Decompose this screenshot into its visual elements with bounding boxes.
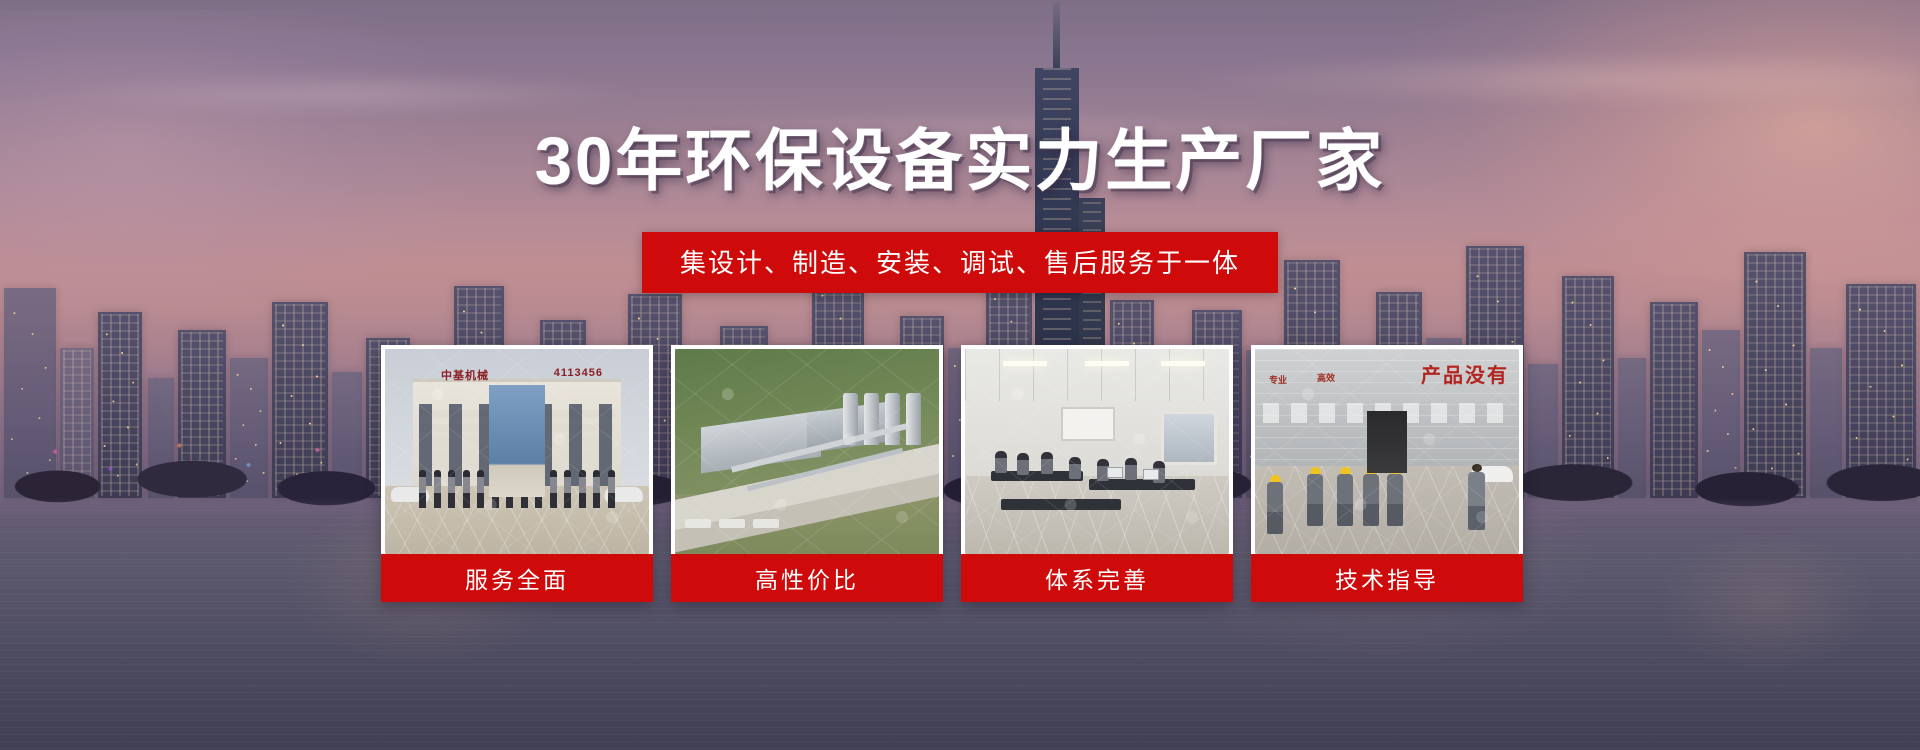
photo-signage-company-name: 中基机械 <box>441 367 489 383</box>
banner-headline: 30年环保设备实力生产厂家 <box>0 128 1920 195</box>
photo-signage-phone: 4113456 <box>554 367 603 379</box>
card-photo-industrial-plant <box>675 349 939 554</box>
feature-card-row: 中基机械 4113456 服务全面 <box>381 345 1523 602</box>
card-label: 高性价比 <box>671 554 943 602</box>
feature-card[interactable]: 专业 高效 产品没有 技术指导 <box>1251 345 1523 602</box>
feature-card[interactable]: 高性价比 <box>671 345 943 602</box>
card-photo-office-interior <box>965 349 1229 554</box>
hero-banner: 30年环保设备实力生产厂家 集设计、制造、安装、调试、售后服务于一体 中基机械 … <box>0 0 1920 750</box>
card-photo-factory-workers: 专业 高效 产品没有 <box>1255 349 1519 554</box>
card-photo-company-building: 中基机械 4113456 <box>385 349 649 554</box>
photo-signage-small-2: 高效 <box>1317 373 1335 383</box>
banner-subtitle: 集设计、制造、安装、调试、售后服务于一体 <box>642 232 1278 293</box>
card-label: 体系完善 <box>961 554 1233 602</box>
banner-subtitle-wrap: 集设计、制造、安装、调试、售后服务于一体 <box>0 232 1920 293</box>
photo-signage-headline: 产品没有 <box>1421 359 1509 388</box>
card-label: 技术指导 <box>1251 554 1523 602</box>
card-label: 服务全面 <box>381 554 653 602</box>
feature-card[interactable]: 体系完善 <box>961 345 1233 602</box>
feature-card[interactable]: 中基机械 4113456 服务全面 <box>381 345 653 602</box>
landmark-tower-spire <box>1053 2 1060 68</box>
photo-signage-small-1: 专业 <box>1269 375 1287 385</box>
